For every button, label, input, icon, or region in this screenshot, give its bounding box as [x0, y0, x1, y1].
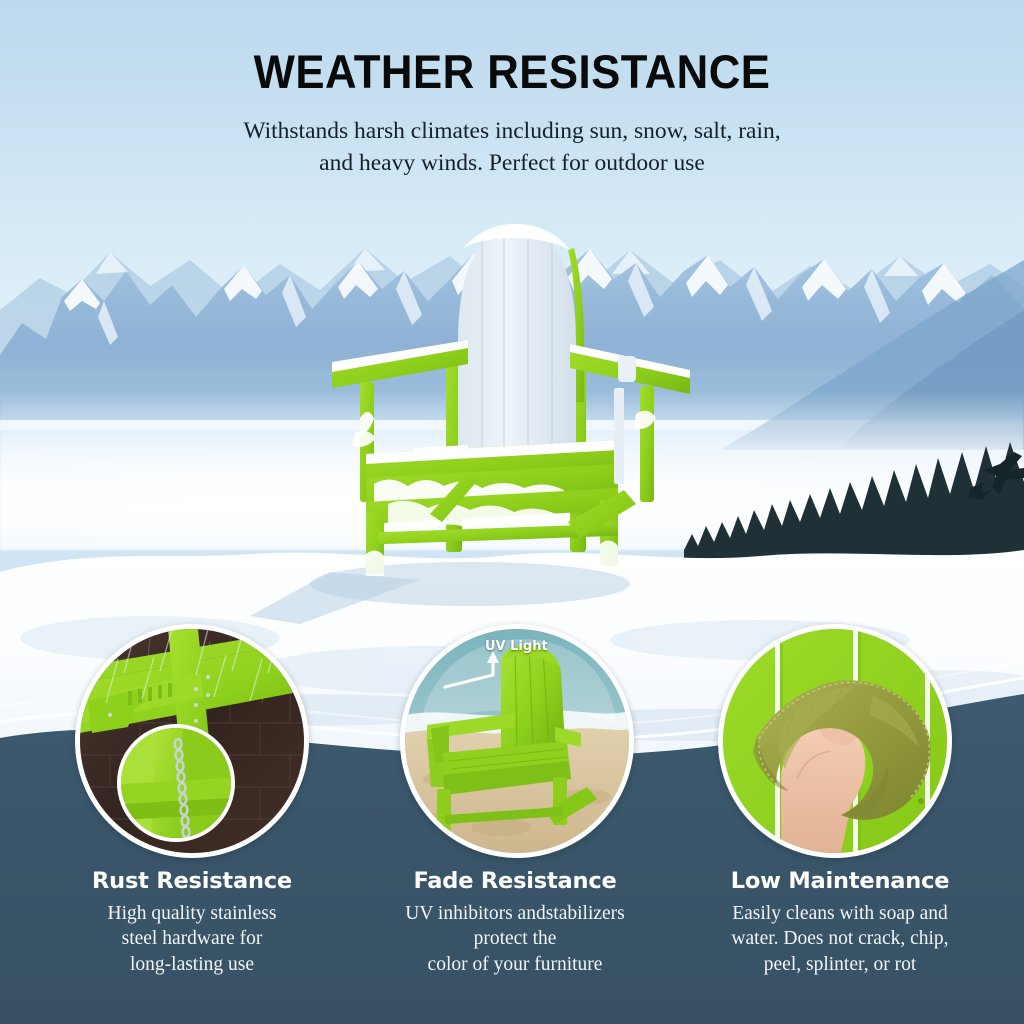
caption-rust-line-3: long-lasting use [130, 954, 254, 975]
caption-maintenance-line-1: Easily cleans with soap and [732, 903, 948, 924]
hero-chair [318, 222, 708, 582]
caption-fade-line-3: color of your furniture [428, 954, 603, 975]
cleaning-scene [723, 629, 947, 853]
feature-inset-chain [117, 724, 235, 842]
caption-title-rust: Rust Resistance [32, 868, 352, 894]
feature-rust-resistance[interactable] [75, 624, 309, 858]
feature-image-maintenance [718, 624, 952, 858]
caption-body-rust: High quality stainless steel hardware fo… [32, 901, 352, 977]
page-title: WEATHER RESISTANCE [36, 48, 988, 95]
caption-fade-resistance: Fade Resistance UV inhibitors andstabili… [355, 868, 675, 977]
caption-fade-line-1: UV inhibitors andstabilizers [405, 903, 625, 924]
caption-title-fade: Fade Resistance [355, 868, 675, 894]
caption-body-maintenance: Easily cleans with soap and water. Does … [675, 901, 1005, 977]
feature-fade-resistance[interactable]: UV Light [400, 624, 634, 858]
caption-maintenance-line-3: peel, splinter, or rot [764, 954, 916, 975]
subtitle-line-1: Withstands harsh climates including sun,… [243, 118, 780, 144]
header-block: WEATHER RESISTANCE Withstands harsh clim… [0, 48, 1024, 180]
caption-fade-line-2: protect the [474, 928, 557, 949]
caption-low-maintenance: Low Maintenance Easily cleans with soap … [675, 868, 1005, 977]
subtitle-line-2: and heavy winds. Perfect for outdoor use [319, 150, 705, 176]
caption-rust-resistance: Rust Resistance High quality stainless s… [32, 868, 352, 977]
caption-title-maintenance: Low Maintenance [675, 868, 1005, 894]
feature-low-maintenance[interactable] [718, 624, 952, 858]
infographic-canvas: WEATHER RESISTANCE Withstands harsh clim… [0, 0, 1024, 1024]
uv-arrow-icon [405, 629, 629, 853]
caption-body-fade: UV inhibitors andstabilizers protect the… [355, 901, 675, 977]
feature-image-fade: UV Light [400, 624, 634, 858]
page-subtitle: Withstands harsh climates including sun,… [0, 115, 1024, 180]
caption-rust-line-2: steel hardware for [122, 928, 263, 949]
caption-rust-line-1: High quality stainless [108, 903, 277, 924]
caption-maintenance-line-2: water. Does not crack, chip, [731, 928, 948, 949]
uv-light-label: UV Light [485, 639, 548, 654]
